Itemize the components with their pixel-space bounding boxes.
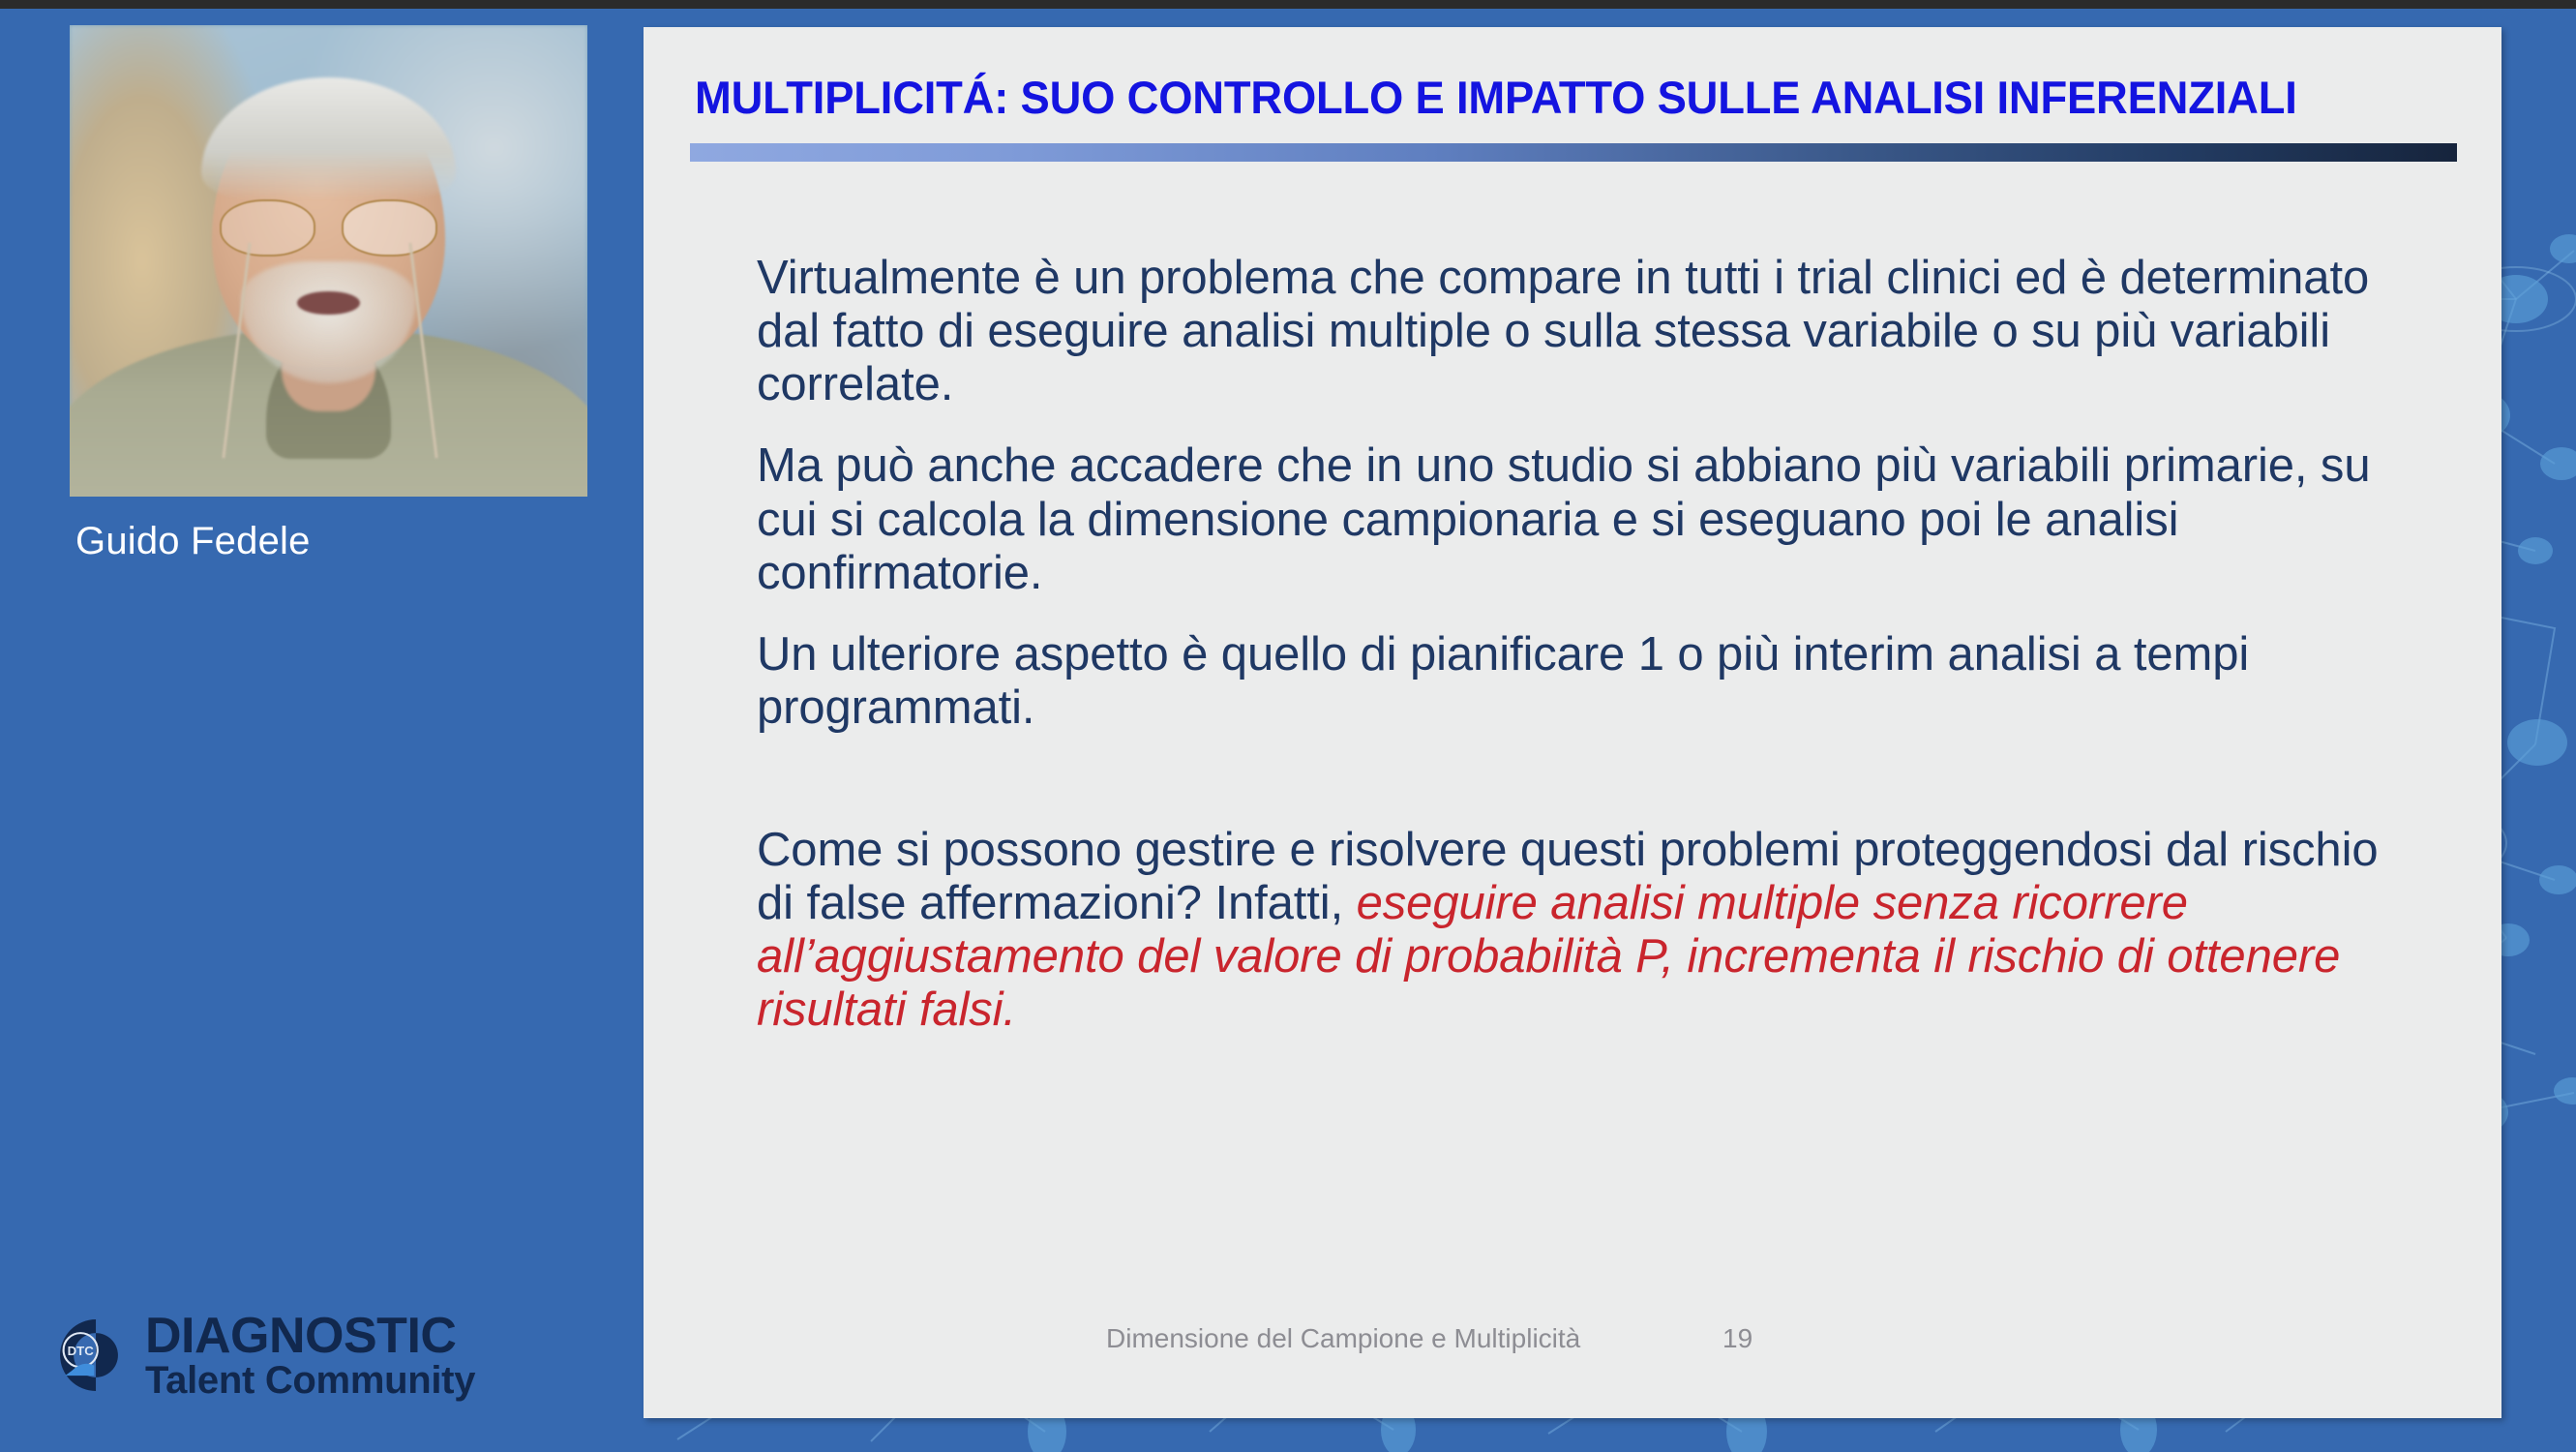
- slide-footer-deck-title: Dimensione del Campione e Multiplicità: [1106, 1323, 1580, 1354]
- title-gradient-rule: [690, 143, 2457, 162]
- body-paragraph-closing: Come si possono gestire e risolvere ques…: [757, 824, 2402, 1038]
- presenter-name-label: Guido Fedele: [75, 520, 311, 563]
- presenter-webcam-tile[interactable]: [70, 25, 587, 497]
- dtc-logo-icon: DTC: [46, 1313, 132, 1398]
- brand-logo: DTC DIAGNOSTIC Talent Community: [46, 1311, 475, 1400]
- presenter-rail: Guido Fedele DTC DIAGNOSTIC Talent Commu…: [0, 9, 644, 1452]
- brand-wordmark: DIAGNOSTIC Talent Community: [145, 1311, 475, 1400]
- body-paragraph-1: Virtualmente è un problema che compare i…: [757, 252, 2402, 411]
- screen-top-bar: [0, 0, 2576, 9]
- slide-title: MULTIPLICITÁ: SUO CONTROLLO E IMPATTO SU…: [695, 71, 2394, 124]
- slide-canvas[interactable]: MULTIPLICITÁ: SUO CONTROLLO E IMPATTO SU…: [644, 27, 2501, 1418]
- body-paragraph-2: Ma può anche accadere che in uno studio …: [757, 439, 2402, 599]
- presenter-glasses: [220, 199, 437, 256]
- svg-text:DTC: DTC: [68, 1344, 95, 1358]
- glasses-right-lens: [342, 199, 437, 256]
- slide-body-content: Virtualmente è un problema che compare i…: [757, 252, 2402, 1066]
- brand-title: DIAGNOSTIC: [145, 1311, 475, 1361]
- brand-subtitle: Talent Community: [145, 1361, 475, 1400]
- glasses-left-lens: [220, 199, 315, 256]
- slide-page-number: 19: [1722, 1323, 1752, 1354]
- body-paragraph-3: Un ulteriore aspetto è quello di pianifi…: [757, 628, 2402, 735]
